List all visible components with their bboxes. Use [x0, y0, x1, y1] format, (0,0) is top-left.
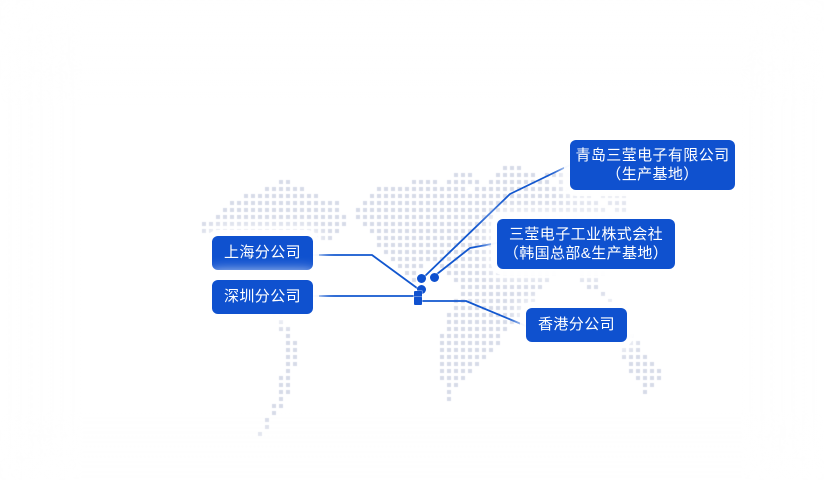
marker-korea[interactable] [430, 273, 439, 282]
marker-hongkong[interactable] [414, 297, 422, 305]
label-text-line: 上海分公司 [224, 243, 301, 262]
world-map-infographic: 青岛三莹电子有限公司（生产基地）三莹电子工业株式会社（韩国总部&生产基地）上海分… [0, 0, 824, 480]
label-shenzhen-branch[interactable]: 深圳分公司 [212, 280, 313, 314]
map-dots-canvas [0, 0, 824, 480]
label-text-line: 香港分公司 [538, 315, 615, 334]
label-qingdao[interactable]: 青岛三莹电子有限公司（生产基地） [570, 140, 735, 190]
label-text-line: 三莹电子工业株式会社 [509, 225, 663, 244]
label-korea-headquarters[interactable]: 三莹电子工业株式会社（韩国总部&生产基地） [497, 219, 675, 269]
label-hongkong-branch[interactable]: 香港分公司 [526, 308, 627, 342]
label-text-line: （生产基地） [606, 165, 698, 184]
label-shanghai-branch[interactable]: 上海分公司 [212, 236, 313, 270]
label-text-line: 深圳分公司 [224, 287, 301, 306]
dotted-world-map [0, 0, 824, 480]
marker-qingdao[interactable] [417, 274, 426, 283]
label-text-line: 青岛三莹电子有限公司 [576, 146, 730, 165]
label-text-line: （韩国总部&生产基地） [504, 244, 668, 263]
